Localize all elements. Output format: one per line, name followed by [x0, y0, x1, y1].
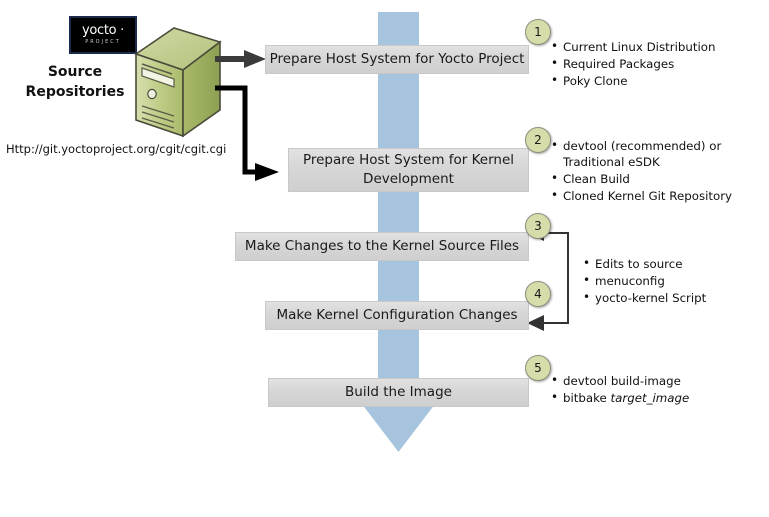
step-1-bullet-list: Current Linux Distribution Required Pack… — [551, 39, 761, 90]
list-item-text: bitbake — [563, 391, 611, 405]
list-item: devtool (recommended) or Traditional eSD… — [551, 138, 766, 170]
process-box-label: Make Changes to the Kernel Source Files — [245, 237, 519, 256]
step-2-bullet-list: devtool (recommended) or Traditional eSD… — [551, 138, 766, 205]
step-badge-1: 1 — [525, 19, 551, 45]
process-box-label: Build the Image — [345, 383, 452, 402]
step-5-bullet-list: devtool build-image bitbake target_image — [551, 373, 761, 407]
process-box-prepare-host-yocto[interactable]: Prepare Host System for Yocto Project — [265, 45, 529, 74]
list-item: Clean Build — [551, 171, 766, 187]
step-badge-4: 4 — [525, 281, 551, 307]
process-box-label-line2: Development — [363, 171, 454, 187]
list-item: devtool build-image — [551, 373, 761, 389]
process-box-build-image[interactable]: Build the Image — [268, 378, 529, 407]
list-item: yocto-kernel Script — [583, 290, 768, 306]
list-item: Required Packages — [551, 56, 761, 72]
step-3-4-bullet-list: Edits to source menuconfig yocto-kernel … — [583, 256, 768, 307]
step-badge-2: 2 — [525, 127, 551, 153]
diagram-canvas: yocto · PROJECT Source Repositories Http… — [0, 0, 769, 517]
process-box-label: Prepare Host System for Yocto Project — [270, 50, 525, 69]
list-item: Cloned Kernel Git Repository — [551, 188, 766, 204]
step-badge-3: 3 — [525, 213, 551, 239]
process-box-label-line1: Prepare Host System for Kernel — [303, 152, 514, 168]
process-box-prepare-host-kernel[interactable]: Prepare Host System for Kernel Developme… — [288, 148, 529, 192]
list-item: Edits to source — [583, 256, 768, 272]
list-item: Poky Clone — [551, 73, 761, 89]
list-item: Current Linux Distribution — [551, 39, 761, 55]
process-box-label: Make Kernel Configuration Changes — [276, 306, 517, 325]
process-box-make-config-changes[interactable]: Make Kernel Configuration Changes — [265, 301, 529, 330]
list-item-emphasis: target_image — [611, 391, 690, 405]
step-badge-5: 5 — [525, 355, 551, 381]
process-box-make-source-changes[interactable]: Make Changes to the Kernel Source Files — [235, 232, 529, 261]
list-item: menuconfig — [583, 273, 768, 289]
process-box-label: Prepare Host System for Kernel Developme… — [303, 151, 514, 189]
list-item: bitbake target_image — [551, 390, 761, 406]
